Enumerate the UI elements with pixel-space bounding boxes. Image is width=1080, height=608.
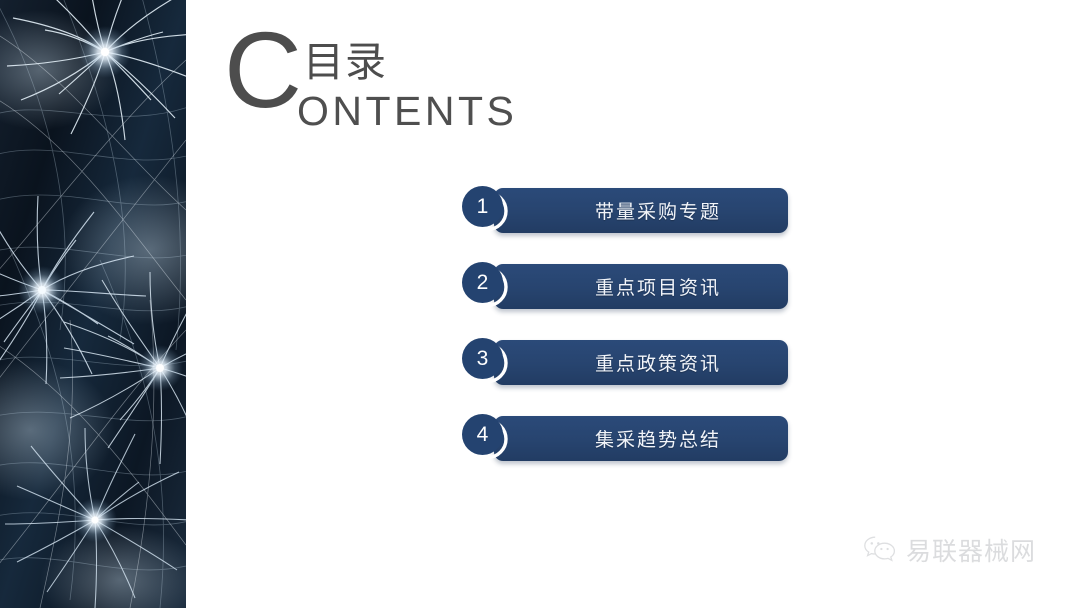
contents-item-label: 带量采购专题 bbox=[494, 188, 788, 233]
dandelion-photo-panel bbox=[0, 0, 186, 608]
contents-item-number-badge: 3 bbox=[462, 338, 511, 387]
watermark-text: 易联器械网 bbox=[906, 532, 1036, 568]
badge-number: 4 bbox=[462, 414, 503, 455]
badge-number: 3 bbox=[462, 338, 503, 379]
contents-item-3[interactable]: 重点政策资讯 3 bbox=[462, 338, 792, 386]
contents-item-number-badge: 1 bbox=[462, 186, 511, 235]
contents-item-4[interactable]: 集采趋势总结 4 bbox=[462, 414, 792, 462]
badge-number: 1 bbox=[462, 186, 503, 227]
contents-item-label: 集采趋势总结 bbox=[494, 416, 788, 461]
contents-item-label: 重点项目资讯 bbox=[494, 264, 788, 309]
dandelion-photo-image bbox=[0, 0, 186, 608]
slide-canvas: C 目录 ONTENTS 带量采购专题 1 重点项目资讯 bbox=[0, 0, 1080, 608]
contents-item-number-badge: 4 bbox=[462, 414, 511, 463]
badge-number: 2 bbox=[462, 262, 503, 303]
contents-list: 带量采购专题 1 重点项目资讯 2 重点政策资讯 bbox=[462, 186, 792, 462]
contents-item-2[interactable]: 重点项目资讯 2 bbox=[462, 262, 792, 310]
contents-item-label: 重点政策资讯 bbox=[494, 340, 788, 385]
wechat-icon bbox=[863, 535, 897, 565]
page-title: C 目录 ONTENTS bbox=[224, 26, 564, 142]
contents-item-number-badge: 2 bbox=[462, 262, 511, 311]
title-chinese: 目录 bbox=[303, 40, 387, 84]
title-english: ONTENTS bbox=[297, 88, 517, 134]
contents-item-1[interactable]: 带量采购专题 1 bbox=[462, 186, 792, 234]
watermark: 易联器械网 bbox=[863, 532, 1036, 568]
title-drop-cap: C bbox=[224, 16, 302, 124]
